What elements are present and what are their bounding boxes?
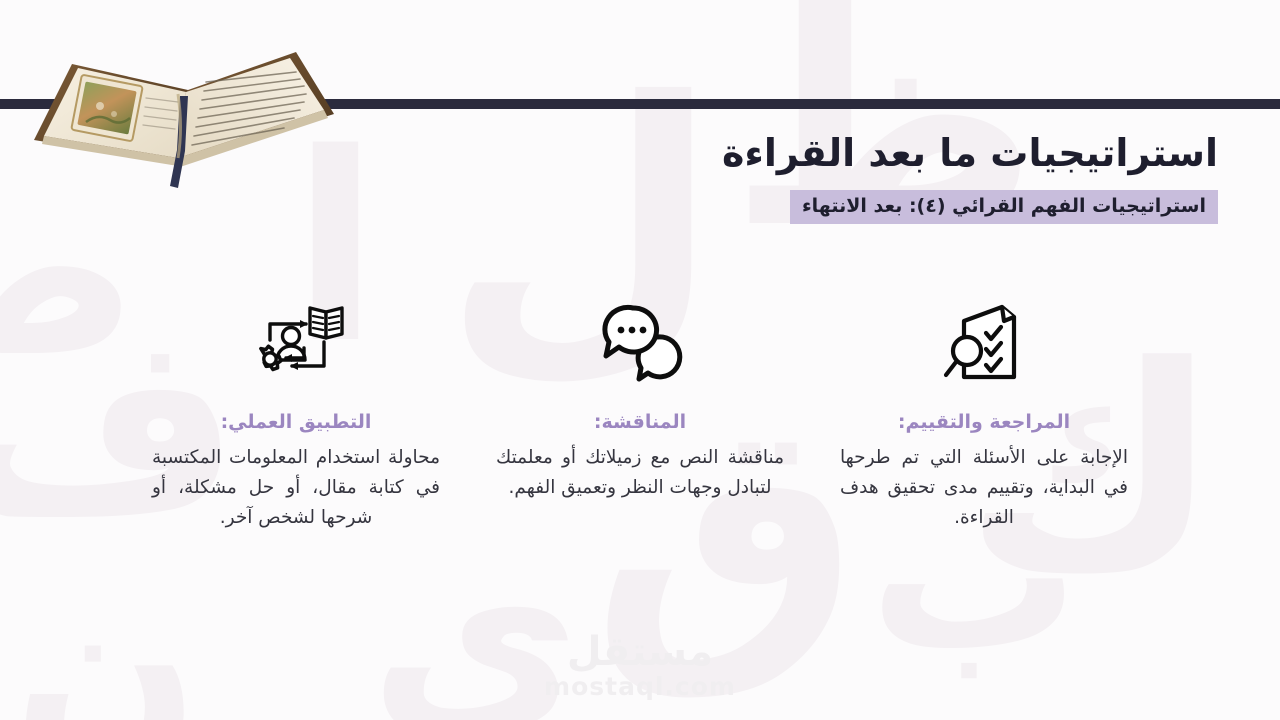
strategy-column-review-evaluation: المراجعة والتقييم: الإجابة على الأسئلة ا…: [834, 296, 1134, 533]
subtitle-badge: استراتيجيات الفهم القرائي (٤): بعد الانت…: [790, 190, 1218, 225]
heading-block: استراتيجيات ما بعد القراءة استراتيجيات ا…: [722, 132, 1218, 224]
watermark-letter: ن: [12, 560, 200, 720]
speech-bubbles-icon: [597, 296, 683, 388]
open-book-image: [28, 18, 348, 198]
open-book-icon: [28, 18, 348, 198]
strategy-body: الإجابة على الأسئلة التي تم طرحها في الب…: [840, 443, 1128, 533]
mostaql-watermark: مستقل mostaql.com: [544, 632, 736, 702]
page-title: استراتيجيات ما بعد القراءة: [722, 132, 1218, 176]
strategy-column-practical-application: التطبيق العملي: محاولة استخدام المعلومات…: [146, 296, 446, 533]
checklist-magnifier-icon: [942, 296, 1026, 388]
gear-person-book-cycle-icon: [248, 296, 344, 388]
mostaql-arabic-wordmark: مستقل: [544, 632, 736, 672]
slide-canvas: ظ ل ا ك ق ف ي ض ن ب: [0, 0, 1280, 720]
strategy-column-discussion: المناقشة: مناقشة النص مع زميلاتك أو معلم…: [490, 296, 790, 503]
strategy-heading: المراجعة والتقييم:: [898, 410, 1070, 435]
strategy-heading: المناقشة:: [594, 410, 686, 435]
strategy-columns: التطبيق العملي: محاولة استخدام المعلومات…: [0, 296, 1280, 533]
strategy-heading: التطبيق العملي:: [221, 410, 372, 435]
strategy-body: مناقشة النص مع زميلاتك أو معلمتك لتبادل …: [496, 443, 784, 503]
mostaql-domain-text: mostaql.com: [544, 672, 736, 702]
strategy-body: محاولة استخدام المعلومات المكتسبة في كتا…: [152, 443, 440, 533]
